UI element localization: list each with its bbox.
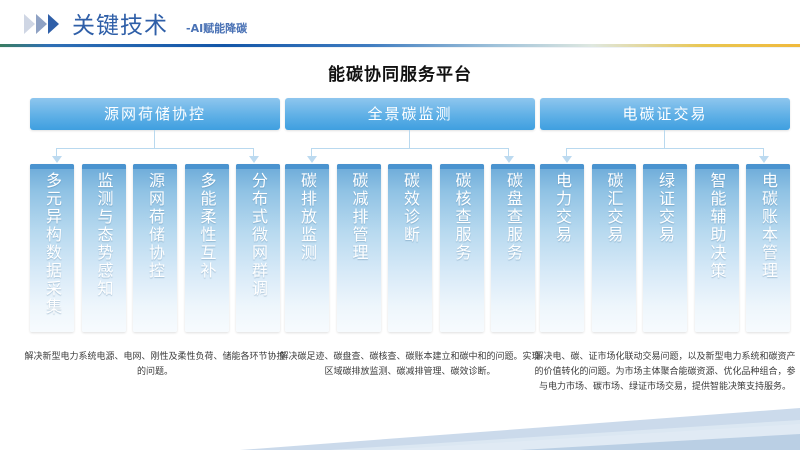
tech-card[interactable]: 碳排放监测 — [285, 164, 329, 332]
tech-card[interactable]: 智能辅助决策 — [695, 164, 739, 332]
column-power-carbon-certificate-trading: 电碳证交易 电力交易 碳汇交易 绿证交易 智能辅助决策 电碳账本管理 解决电、碳… — [540, 98, 790, 408]
header-title: 关键技术 — [72, 6, 168, 40]
tech-card[interactable]: 分布式微网群调 — [236, 164, 280, 332]
arrow-down-icon — [307, 156, 317, 163]
tech-card[interactable]: 多能柔性互补 — [185, 164, 229, 332]
tech-card[interactable]: 电碳账本管理 — [746, 164, 790, 332]
tech-card-label: 源网荷储协控 — [133, 172, 177, 280]
tech-card[interactable]: 碳效诊断 — [388, 164, 432, 332]
section-heading[interactable]: 全景碳监测 — [285, 98, 535, 130]
card-row: 多元异构数据采集 监测与态势感知 源网荷储协控 多能柔性互补 分布式微网群调 — [30, 164, 280, 332]
tech-card[interactable]: 绿证交易 — [643, 164, 687, 332]
arrow-down-icon — [249, 156, 259, 163]
section-heading[interactable]: 电碳证交易 — [540, 98, 790, 130]
arrow-down-icon — [759, 156, 769, 163]
tech-card-label: 多能柔性互补 — [185, 172, 229, 280]
tech-card-label: 智能辅助决策 — [695, 172, 739, 280]
arrow-down-icon — [52, 156, 62, 163]
double-chevron-right-icon — [24, 14, 68, 34]
arrow-down-icon — [504, 156, 514, 163]
column-description: 解决电、碳、证市场化联动交易问题，以及新型电力系统和碳资产的价值转化的问题。为市… — [534, 350, 796, 395]
page-title: 能碳协同服务平台 — [0, 60, 800, 85]
connector-group — [540, 130, 790, 164]
tech-card-label: 绿证交易 — [643, 172, 687, 244]
tech-card[interactable]: 源网荷储协控 — [133, 164, 177, 332]
tech-card-label: 监测与态势感知 — [82, 172, 126, 298]
section-heading[interactable]: 源网荷储协控 — [30, 98, 280, 130]
tech-card[interactable]: 碳核查服务 — [440, 164, 484, 332]
header-divider-shadow — [0, 47, 800, 48]
tech-card-label: 碳排放监测 — [285, 172, 329, 262]
tech-card-label: 碳盘查服务 — [491, 172, 535, 262]
card-row: 电力交易 碳汇交易 绿证交易 智能辅助决策 电碳账本管理 — [540, 164, 790, 332]
tech-card-label: 电碳账本管理 — [746, 172, 790, 280]
tech-card-label: 分布式微网群调 — [236, 172, 280, 298]
tech-card-label: 碳效诊断 — [388, 172, 432, 244]
arrow-down-icon — [562, 156, 572, 163]
tech-card-label: 电力交易 — [540, 172, 584, 244]
tech-card[interactable]: 碳盘查服务 — [491, 164, 535, 332]
connector-group — [285, 130, 535, 164]
column-description: 解决新型电力系统电源、电网、刚性及柔性负荷、储能各环节协控的问题。 — [24, 350, 286, 380]
column-description: 解决碳足迹、碳盘查、碳核查、碳账本建立和碳中和的问题。实现区域碳排放监测、碳减排… — [279, 350, 541, 380]
tech-card-label: 碳汇交易 — [592, 172, 636, 244]
header-subtitle: -AI赋能降碳 — [186, 20, 247, 36]
column-panoramic-carbon-monitoring: 全景碳监测 碳排放监测 碳减排管理 碳效诊断 碳核查服务 碳盘查服务 解决碳足迹… — [285, 98, 535, 408]
tech-card-label: 碳核查服务 — [440, 172, 484, 262]
connector-group — [30, 130, 280, 164]
tech-card[interactable]: 碳减排管理 — [337, 164, 381, 332]
tech-card[interactable]: 多元异构数据采集 — [30, 164, 74, 332]
card-row: 碳排放监测 碳减排管理 碳效诊断 碳核查服务 碳盘查服务 — [285, 164, 535, 332]
tech-card[interactable]: 碳汇交易 — [592, 164, 636, 332]
tech-card[interactable]: 监测与态势感知 — [82, 164, 126, 332]
column-source-grid-load-storage: 源网荷储协控 多元异构数据采集 监测与态势感知 源网荷储协控 多能柔性互补 分布… — [30, 98, 280, 408]
tech-card-label: 碳减排管理 — [337, 172, 381, 262]
tech-card[interactable]: 电力交易 — [540, 164, 584, 332]
page-header: 关键技术 -AI赋能降碳 — [0, 0, 800, 48]
bottom-decoration — [0, 390, 800, 450]
tech-card-label: 多元异构数据采集 — [30, 172, 74, 316]
